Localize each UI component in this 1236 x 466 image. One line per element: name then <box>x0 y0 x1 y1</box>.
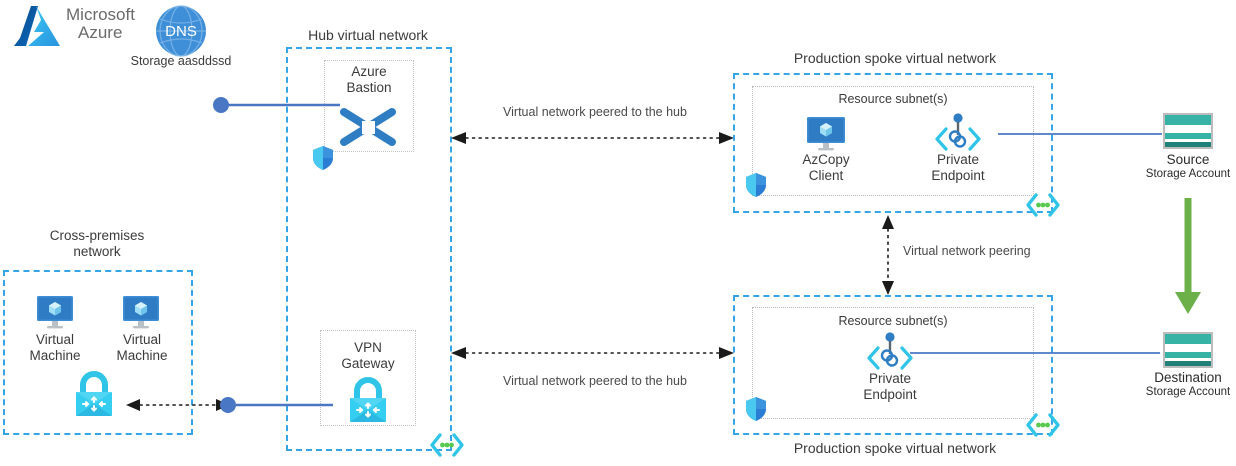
azure-bastion-label: Azure Bastion <box>324 64 414 97</box>
vm-2-label-line1: Virtual <box>103 332 181 348</box>
vm-1-label-line1: Virtual <box>16 332 94 348</box>
vpn-gateway-lock-icon <box>344 378 392 424</box>
destination-storage-link <box>910 350 1160 356</box>
virtual-network-icon <box>1026 192 1060 218</box>
cross-premises-vm-2 <box>122 295 160 329</box>
architecture-diagram-canvas: Microsoft Azure DNS Storage aasddssd Hub… <box>0 0 1236 466</box>
azure-brand-text: Microsoft Azure <box>66 6 135 42</box>
spoke-top-subnet-label: Resource subnet(s) <box>752 92 1034 106</box>
dns-caption: Storage aasddssd <box>118 54 244 68</box>
pe-top-label-line1: Private <box>912 152 1004 168</box>
peer-bottom-label: Virtual network peered to the hub <box>455 374 735 388</box>
destination-storage-account <box>1162 331 1214 369</box>
spoke-peering-label: Virtual network peering <box>903 244 1031 258</box>
cross-premises-vm-2-label: Virtual Machine <box>103 332 181 365</box>
dns-icon-label: DNS <box>165 23 197 40</box>
spoke-bottom-title: Production spoke virtual network <box>735 440 1055 456</box>
cross-premises-title: Cross-premises network <box>22 228 172 261</box>
spoke-bottom-vnet-corner-icon <box>1026 412 1060 438</box>
destination-storage-subtitle: Storage Account <box>1126 386 1236 398</box>
shield-icon <box>745 396 767 422</box>
private-endpoint-icon <box>864 332 916 376</box>
vpn-gateway-icon-wrap <box>344 378 392 424</box>
vpn-gateway-label-line1: VPN <box>320 340 416 356</box>
spoke-top-private-endpoint-node <box>932 113 984 157</box>
spoke-bottom-shield <box>745 396 767 422</box>
hub-vnet-title: Hub virtual network <box>268 27 468 43</box>
destination-storage-name: Destination <box>1126 370 1236 385</box>
spoke-top-vnet-corner-icon <box>1026 192 1060 218</box>
azure-brand-logo <box>14 4 60 48</box>
cross-premises-title-line2: network <box>22 244 172 260</box>
storage-account-icon <box>1162 331 1214 369</box>
azure-bastion-icon <box>334 104 404 152</box>
spoke-bottom-private-endpoint-node <box>864 332 916 376</box>
shield-icon <box>312 145 334 171</box>
storage-account-icon <box>1162 112 1214 150</box>
pe-top-label-line2: Endpoint <box>912 168 1004 184</box>
azcopy-label-line2: Client <box>786 168 866 184</box>
source-storage-link <box>998 131 1162 137</box>
shield-icon <box>745 172 767 198</box>
private-endpoint-icon <box>932 113 984 157</box>
peer-top-label: Virtual network peered to the hub <box>455 105 735 119</box>
pe-bottom-label-line2: Endpoint <box>844 387 936 403</box>
hub-vnet-corner-icon <box>430 432 464 458</box>
cross-premises-gateway <box>70 372 118 418</box>
spoke-bottom-private-endpoint-label: Private Endpoint <box>844 371 936 404</box>
virtual-machine-icon <box>36 295 74 329</box>
dns-globe-icon: DNS <box>155 5 207 57</box>
source-storage-account <box>1162 112 1214 150</box>
dns-node: DNS <box>155 5 207 57</box>
source-storage-name: Source <box>1130 152 1236 167</box>
peer-bottom-arrow <box>450 345 735 361</box>
vpn-gateway-label-line2: Gateway <box>320 356 416 372</box>
brand-line-microsoft: Microsoft <box>66 6 135 24</box>
azure-logo-icon <box>14 4 60 48</box>
vm-1-label-line2: Machine <box>16 348 94 364</box>
azcopy-client-label: AzCopy Client <box>786 152 866 185</box>
cross-premises-vm-1-label: Virtual Machine <box>16 332 94 365</box>
spoke-peering-arrow <box>880 214 896 296</box>
azcopy-label-line1: AzCopy <box>786 152 866 168</box>
vpn-gateway-label: VPN Gateway <box>320 340 416 373</box>
spoke-top-title: Production spoke virtual network <box>735 50 1055 66</box>
vpn-tunnel-connector <box>118 394 333 416</box>
pe-bottom-label-line1: Private <box>844 371 936 387</box>
source-storage-subtitle: Storage Account <box>1130 168 1236 180</box>
copy-direction-arrow <box>1172 196 1204 316</box>
azcopy-client-node <box>806 116 846 152</box>
vpn-gateway-lock-icon <box>70 372 118 418</box>
spoke-top-private-endpoint-label: Private Endpoint <box>912 152 1004 185</box>
bastion-inbound-connector <box>210 95 340 115</box>
azure-bastion-icon-wrap <box>334 104 404 152</box>
azure-bastion-label-line1: Azure <box>324 64 414 80</box>
brand-line-azure: Azure <box>66 24 135 42</box>
azcopy-client-icon <box>806 116 846 152</box>
hub-bastion-shield <box>312 145 334 171</box>
virtual-network-icon <box>1026 412 1060 438</box>
peer-top-arrow <box>450 130 735 146</box>
spoke-bottom-subnet-label: Resource subnet(s) <box>752 314 1034 328</box>
copy-direction-arrow-wrap <box>1172 196 1204 316</box>
virtual-network-icon <box>430 432 464 458</box>
cross-premises-title-line1: Cross-premises <box>22 228 172 244</box>
virtual-machine-icon <box>122 295 160 329</box>
vm-2-label-line2: Machine <box>103 348 181 364</box>
spoke-top-shield <box>745 172 767 198</box>
cross-premises-vm-1 <box>36 295 74 329</box>
